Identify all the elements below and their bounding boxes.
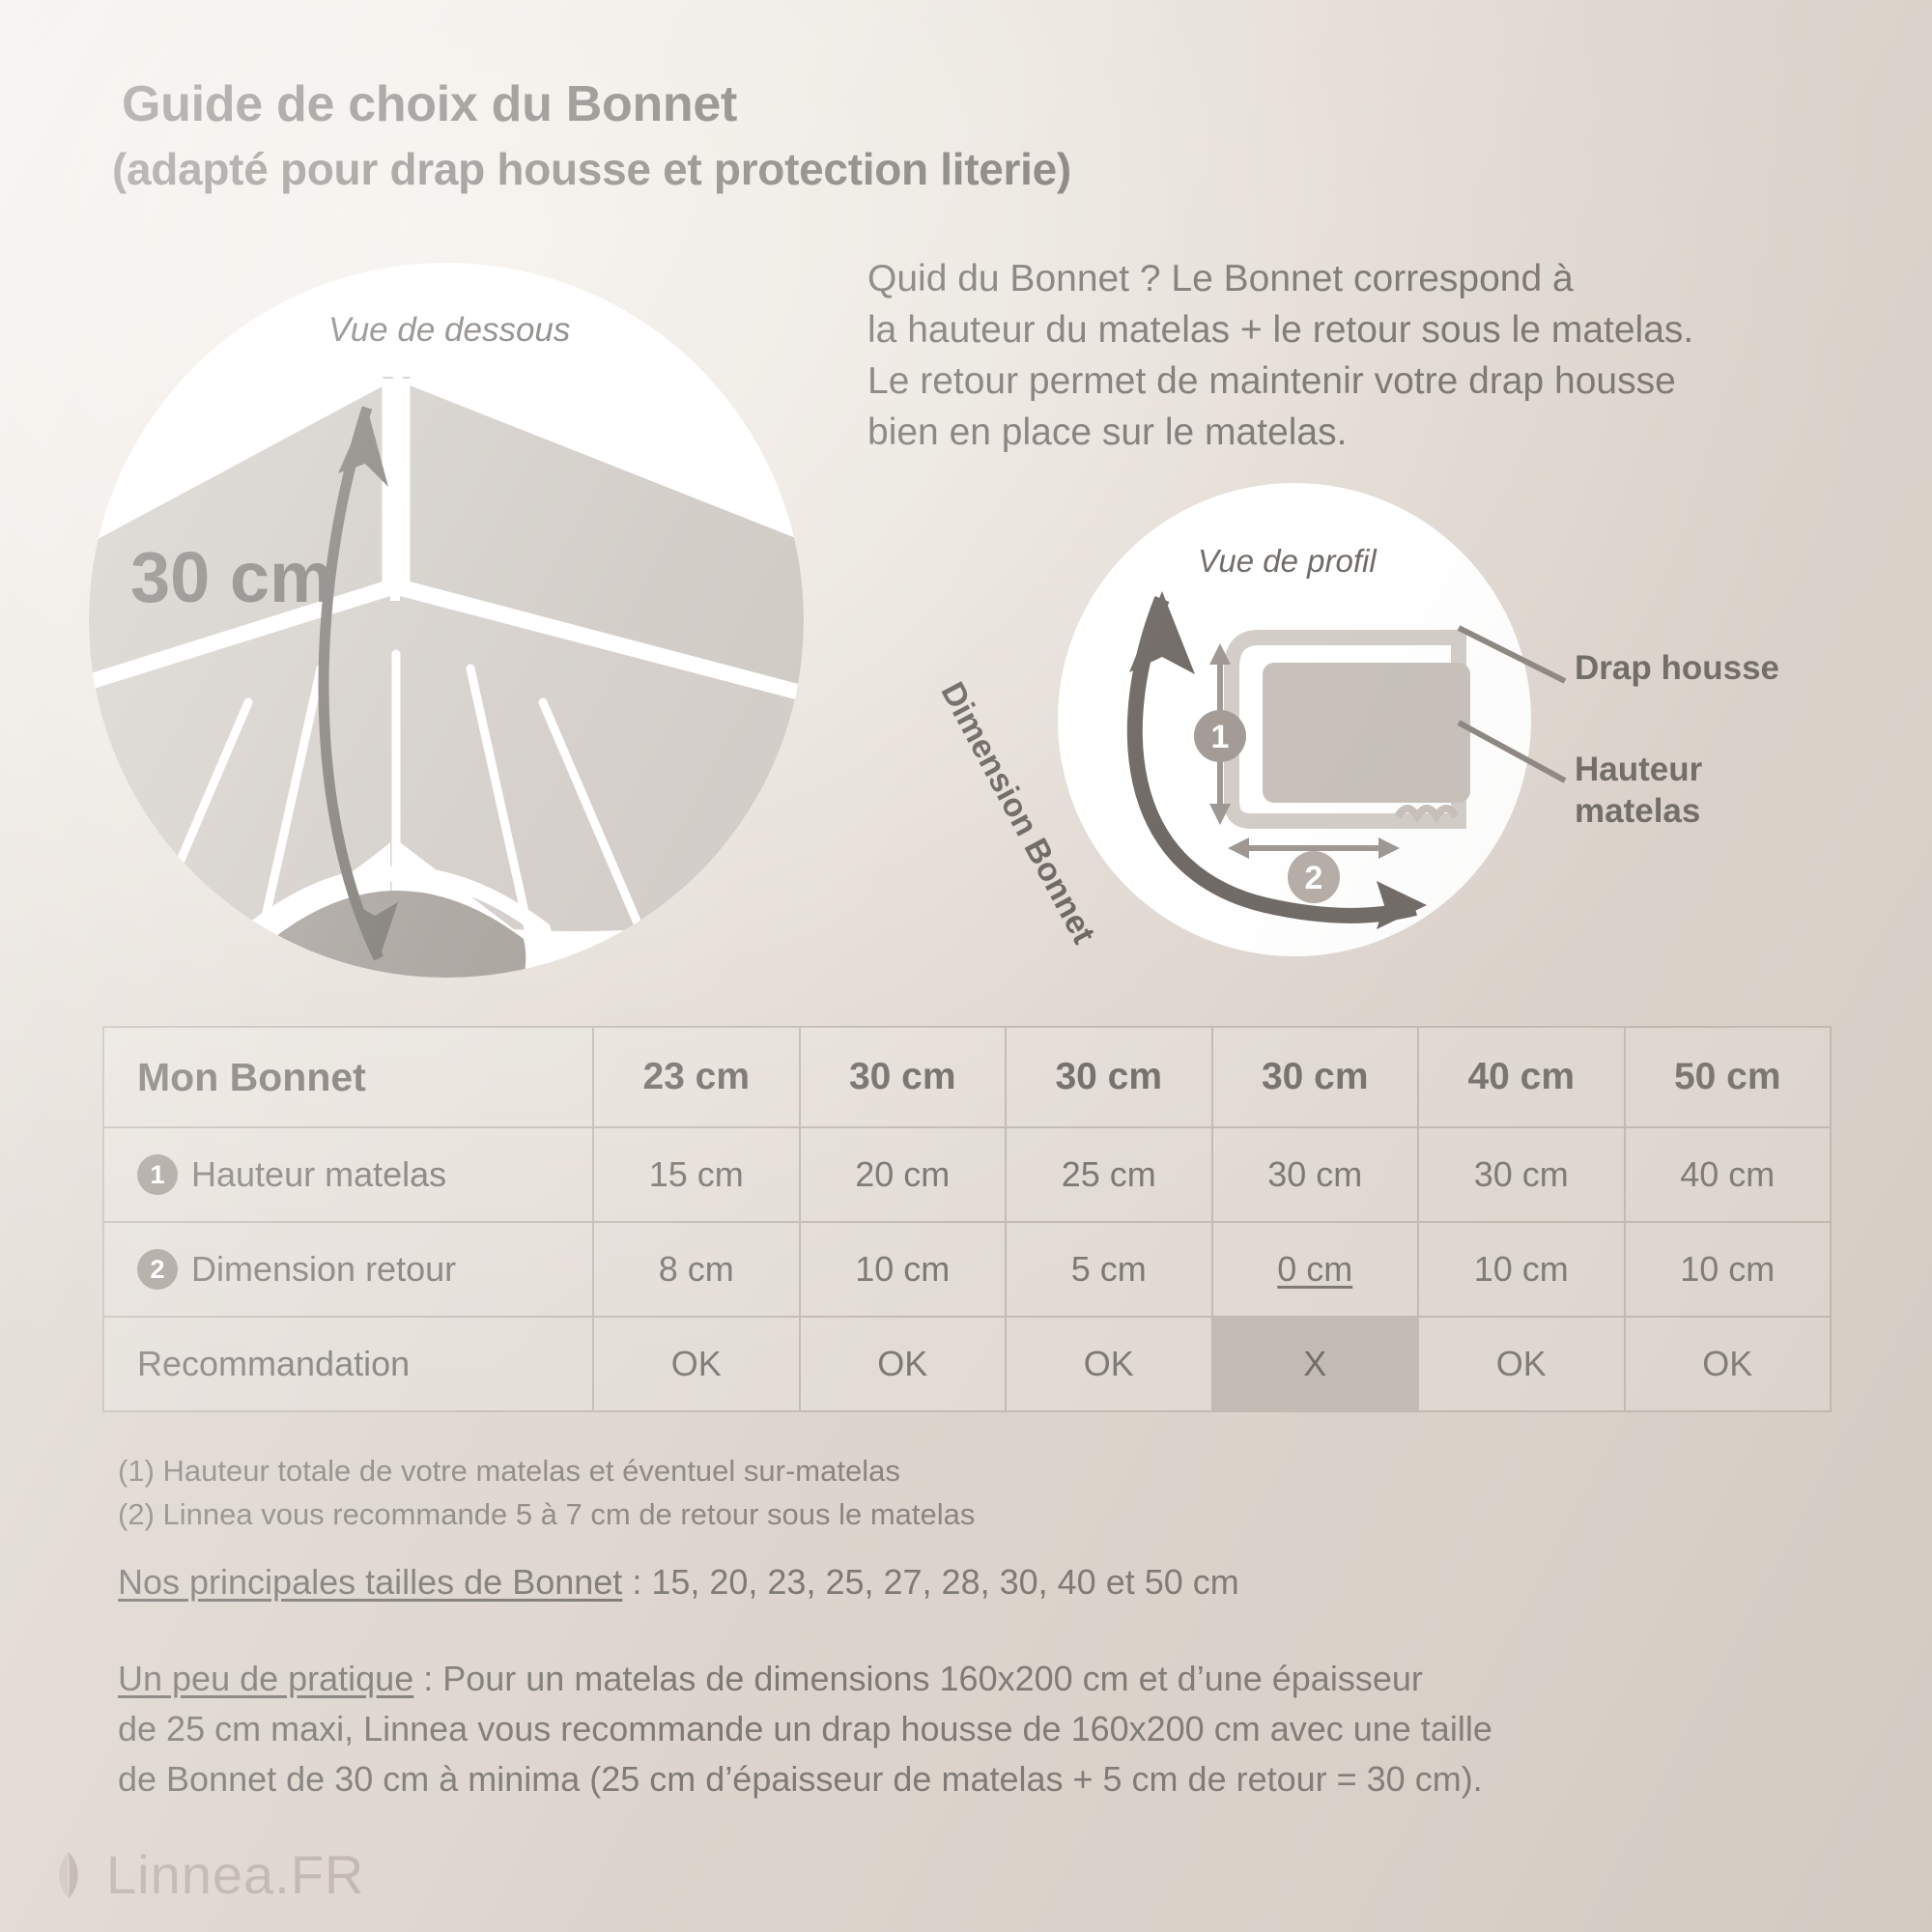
intro-line-2: la hauteur du matelas + le retour sous l… — [867, 304, 1824, 355]
cell-retour-3: 5 cm — [1006, 1222, 1212, 1317]
row-label-dimension-retour: 2Dimension retour — [103, 1222, 593, 1317]
cell-retour-1: 8 cm — [593, 1222, 800, 1317]
table-header-col-3: 30 cm — [1006, 1027, 1212, 1127]
practice-underlined: Un peu de pratique — [118, 1659, 413, 1698]
cell-retour-2: 10 cm — [800, 1222, 1007, 1317]
cell-hauteur-3: 25 cm — [1006, 1127, 1212, 1222]
sizes-line-rest: : 15, 20, 23, 25, 27, 28, 30, 40 et 50 c… — [622, 1562, 1238, 1602]
infographic-page: Guide de choix du Bonnet (adapté pour dr… — [0, 0, 1932, 1932]
cell-hauteur-1: 15 cm — [593, 1127, 800, 1222]
table-header-col-1: 23 cm — [593, 1027, 800, 1127]
sizes-line-underlined: Nos principales tailles de Bonnet — [118, 1562, 622, 1602]
bottom-view-diagram — [89, 263, 804, 978]
row-label-recommandation: Recommandation — [103, 1317, 593, 1411]
badge-2: 2 — [1288, 851, 1340, 903]
table-header-col-5: 40 cm — [1418, 1027, 1625, 1127]
cell-reco-4-warning: X — [1212, 1317, 1419, 1411]
footnotes: (1) Hauteur totale de votre matelas et é… — [118, 1449, 975, 1536]
intro-line-4: bien en place sur le matelas. — [867, 407, 1824, 458]
cell-reco-3: OK — [1006, 1317, 1212, 1411]
intro-line-1: Quid du Bonnet ? Le Bonnet correspond à — [867, 253, 1824, 304]
table-row-dimension-retour: 2Dimension retour 8 cm 10 cm 5 cm 0 cm 1… — [103, 1222, 1831, 1317]
table-row-hauteur-matelas: 1Hauteur matelas 15 cm 20 cm 25 cm 30 cm… — [103, 1127, 1831, 1222]
practice-line-2: de 25 cm maxi, Linnea vous recommande un… — [118, 1704, 1857, 1754]
logo-text: Linnea.FR — [106, 1843, 364, 1906]
bottom-view-svg — [89, 263, 804, 978]
practice-line-1: Un peu de pratique : Pour un matelas de … — [118, 1654, 1857, 1704]
logo[interactable]: Linnea.FR — [46, 1843, 364, 1906]
cell-hauteur-6: 40 cm — [1625, 1127, 1832, 1222]
bottom-view-label: Vue de dessous — [328, 311, 570, 350]
cell-retour-4: 0 cm — [1212, 1222, 1419, 1317]
mattress-block — [1263, 663, 1470, 803]
svg-text:1: 1 — [1211, 719, 1230, 755]
cell-reco-6: OK — [1625, 1317, 1832, 1411]
cell-reco-2: OK — [800, 1317, 1007, 1411]
table-row-recommandation: Recommandation OK OK OK X OK OK — [103, 1317, 1831, 1411]
page-subtitle: (adapté pour drap housse et protection l… — [112, 143, 1071, 195]
row-label-text-1: Hauteur matelas — [191, 1154, 446, 1194]
cell-hauteur-4: 30 cm — [1212, 1127, 1419, 1222]
row-badge-2: 2 — [137, 1249, 178, 1290]
profile-view-label: Vue de profil — [1198, 543, 1377, 580]
row-label-hauteur-matelas: 1Hauteur matelas — [103, 1127, 593, 1222]
table-header-col-6: 50 cm — [1625, 1027, 1832, 1127]
row-label-text-2: Dimension retour — [191, 1249, 456, 1289]
footnote-1: (1) Hauteur totale de votre matelas et é… — [118, 1449, 975, 1492]
row-badge-1: 1 — [137, 1154, 178, 1195]
cell-reco-5: OK — [1418, 1317, 1625, 1411]
cell-hauteur-2: 20 cm — [800, 1127, 1007, 1222]
practice-paragraph: Un peu de pratique : Pour un matelas de … — [118, 1654, 1857, 1804]
table-header-col-4: 30 cm — [1212, 1027, 1419, 1127]
callout-hauteur-line2: matelas — [1575, 792, 1700, 830]
callout-hauteur-matelas: Hauteur matelas — [1575, 749, 1702, 832]
intro-paragraph: Quid du Bonnet ? Le Bonnet correspond à … — [867, 253, 1824, 458]
sizes-line: Nos principales tailles de Bonnet : 15, … — [118, 1562, 1239, 1603]
practice-line-3: de Bonnet de 30 cm à minima (25 cm d’épa… — [118, 1754, 1857, 1804]
page-title: Guide de choix du Bonnet — [122, 75, 737, 133]
practice-line-1-rest: : Pour un matelas de dimensions 160x200 … — [413, 1659, 1423, 1698]
bonnet-comparison-table: Mon Bonnet 23 cm 30 cm 30 cm 30 cm 40 cm… — [102, 1026, 1832, 1412]
table-header-label: Mon Bonnet — [103, 1027, 593, 1127]
cell-retour-5: 10 cm — [1418, 1222, 1625, 1317]
table-header-row: Mon Bonnet 23 cm 30 cm 30 cm 30 cm 40 cm… — [103, 1027, 1831, 1127]
cell-reco-1: OK — [593, 1317, 800, 1411]
bonnet-measure-value: 30 cm — [130, 536, 333, 618]
callout-drap-housse: Drap housse — [1575, 647, 1779, 689]
cell-hauteur-5: 30 cm — [1418, 1127, 1625, 1222]
footnote-2: (2) Linnea vous recommande 5 à 7 cm de r… — [118, 1492, 975, 1536]
svg-text:2: 2 — [1305, 860, 1323, 896]
badge-1: 1 — [1194, 710, 1246, 762]
table-header-col-2: 30 cm — [800, 1027, 1007, 1127]
intro-line-3: Le retour permet de maintenir votre drap… — [867, 355, 1824, 407]
callout-hauteur-line1: Hauteur — [1575, 751, 1702, 788]
cell-retour-4-value: 0 cm — [1277, 1249, 1352, 1289]
leaf-diamond-icon — [46, 1848, 91, 1902]
cell-retour-6: 10 cm — [1625, 1222, 1832, 1317]
